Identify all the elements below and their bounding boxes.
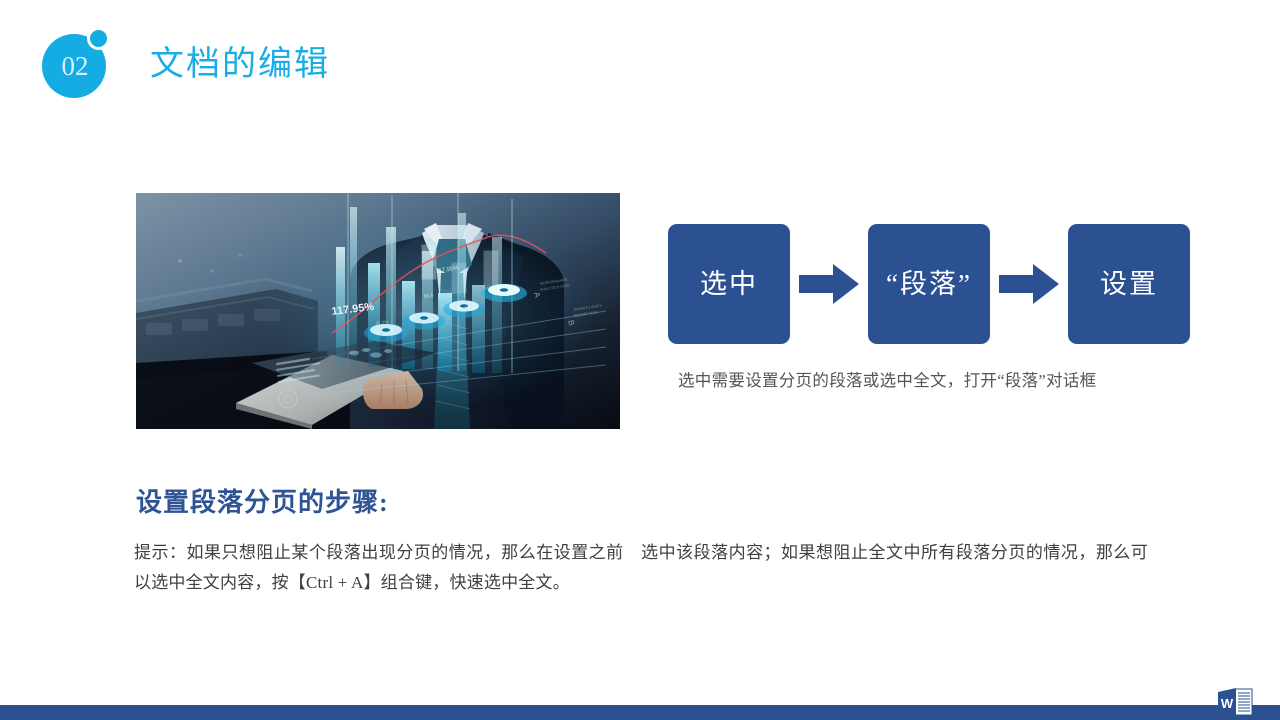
flow-arrow-1-icon xyxy=(790,262,868,306)
badge-accent-dot-icon xyxy=(90,30,107,47)
flow-step-1-label: 选中 xyxy=(700,271,758,298)
section-number-badge: 02 xyxy=(40,28,116,102)
slide-root: 02 文档的编辑 xyxy=(0,0,1280,720)
process-flow: 选中 “段落” 设置 xyxy=(668,224,1190,344)
flow-step-2[interactable]: “段落” xyxy=(868,224,990,344)
slide-header: 02 文档的编辑 xyxy=(40,28,330,102)
flow-step-3-label: 设置 xyxy=(1100,271,1158,298)
flow-step-3[interactable]: 设置 xyxy=(1068,224,1190,344)
hero-photo: 117.95% 117.95% 56.6 86.04% 41.2% A B PE… xyxy=(136,193,620,429)
flow-arrow-2-icon xyxy=(990,262,1068,306)
page-title: 文档的编辑 xyxy=(150,48,330,82)
flow-step-2-label: “段落” xyxy=(886,271,972,298)
flow-step-1[interactable]: 选中 xyxy=(668,224,790,344)
word-document-icon: W xyxy=(1212,686,1256,720)
badge-number-label: 02 xyxy=(60,53,89,80)
steps-heading: 设置段落分页的步骤: xyxy=(136,487,389,518)
footer-bar xyxy=(0,705,1280,720)
hero-photo-illustration: 117.95% 117.95% 56.6 86.04% 41.2% A B PE… xyxy=(136,193,620,429)
flow-caption: 选中需要设置分页的段落或选中全文，打开“段落”对话框 xyxy=(678,368,1178,394)
steps-body-text: 提示：如果只想阻止某个段落出现分页的情况，那么在设置之前 选中该段落内容；如果想… xyxy=(134,538,1148,598)
word-icon-letter: W xyxy=(1221,696,1234,711)
